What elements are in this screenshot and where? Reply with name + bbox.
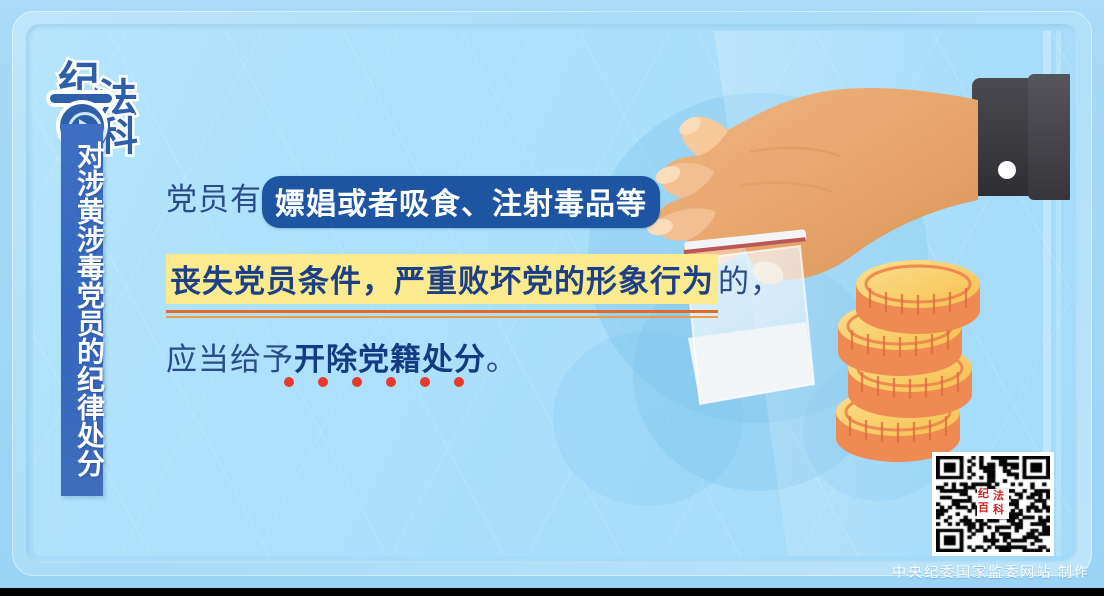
coin-stack	[836, 260, 980, 462]
qr-code[interactable]: 纪 法 百 科	[932, 452, 1054, 556]
copy-line-2: 丧失党员条件，严重败坏党的形象行为 的，	[166, 254, 696, 304]
line1-pill-phrase: 嫖娼或者吸食、注射毒品等	[262, 176, 660, 228]
line3-emphasis-phrase: 开除党籍处分	[294, 342, 486, 377]
qr-logo-char-fa: 法	[993, 491, 1004, 502]
qr-logo-char-ke: 科	[993, 505, 1004, 516]
body-copy: 党员有嫖娼或者吸食、注射毒品等 丧失党员条件，严重败坏党的形象行为 的， 应当给…	[166, 174, 696, 405]
copy-line-1: 党员有嫖娼或者吸食、注射毒品等	[166, 174, 696, 228]
bottom-black-strip	[0, 588, 1104, 596]
vertical-title-banner: 对涉黄涉毒党员的纪律处分	[61, 124, 103, 496]
vertical-title-text: 对涉黄涉毒党员的纪律处分	[61, 128, 103, 490]
line2-highlight-wrap: 丧失党员条件，严重败坏党的形象行为	[166, 254, 718, 304]
poster-stage: 纪 法 科 对涉黄涉毒党员的纪律处分 党员有嫖娼或者吸食、注射毒品等 丧失党员条…	[0, 0, 1104, 596]
line3-prefix: 应当给予	[166, 342, 294, 377]
emphasis-dot	[284, 377, 294, 387]
qr-logo-char-bai: 百	[978, 503, 989, 514]
emphasis-dot	[352, 377, 362, 387]
suit-sleeve	[972, 74, 1070, 200]
highlight-underline-secondary	[166, 316, 718, 318]
line2-highlight-phrase: 丧失党员条件，严重败坏党的形象行为	[166, 254, 718, 304]
emphasis-dot	[386, 377, 396, 387]
copy-line-3: 应当给予开除党籍处分。	[166, 334, 696, 379]
highlight-underline-primary	[166, 310, 718, 313]
emphasis-dot	[318, 377, 328, 387]
bai-top-bar	[50, 94, 112, 103]
qr-canvas: 纪 法 百 科	[936, 456, 1050, 552]
emphasis-dot	[420, 377, 430, 387]
line3-suffix: 。	[486, 342, 518, 377]
qr-logo-char-ji: 纪	[978, 489, 989, 500]
credit-text: 中央纪委国家监委网站 制作	[890, 562, 1090, 582]
emphasis-dot-row	[284, 377, 464, 387]
line1-prefix: 党员有	[166, 182, 262, 217]
line2-suffix: 的，	[718, 264, 782, 299]
qr-center-logo: 纪 法 百 科	[977, 489, 1009, 519]
emphasis-dot	[454, 377, 464, 387]
